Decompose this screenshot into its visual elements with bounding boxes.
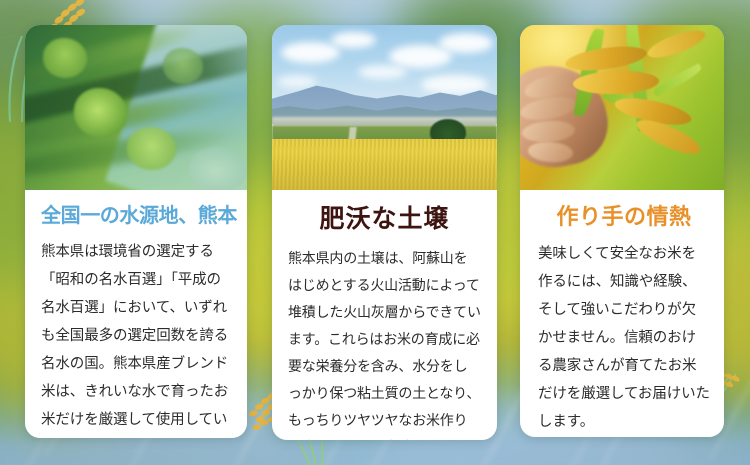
card-2-text: 熊本県内の土壌は、阿蘇山をはじめとする火山活動によって堆積した火山灰層からできて… [288, 245, 481, 440]
feature-card-water-source[interactable]: 全国一の水源地、熊本 熊本県は環境省の選定する「昭和の名水百選」「平成の名水百選… [25, 25, 247, 438]
spring-water-aerial-photo [25, 25, 247, 190]
card-1-body: 全国一の水源地、熊本 熊本県は環境省の選定する「昭和の名水百選」「平成の名水百選… [25, 190, 247, 438]
card-2-body: 肥沃な土壌 熊本県内の土壌は、阿蘇山をはじめとする火山活動によって堆積した火山灰… [272, 190, 497, 440]
feature-card-fertile-soil[interactable]: 肥沃な土壌 熊本県内の土壌は、阿蘇山をはじめとする火山活動によって堆積した火山灰… [272, 25, 497, 440]
card-1-text: 熊本県は環境省の選定する「昭和の名水百選」「平成の名水百選」において、いずれも全… [41, 239, 231, 438]
card-3-text: 美味しくて安全なお米を作るには、知識や経験、そして強いこだわりが欠かせません。信… [538, 241, 710, 437]
farmer-hand-rice-ears-photo [520, 25, 724, 190]
card-3-body: 作り手の情熱 美味しくて安全なお米を作るには、知識や経験、そして強いこだわりが欠… [520, 190, 724, 437]
card-3-title: 作り手の情熱 [538, 204, 710, 230]
card-2-title: 肥沃な土壌 [288, 204, 481, 234]
mount-aso-rice-field-photo [272, 25, 497, 190]
card-1-title: 全国一の水源地、熊本 [41, 204, 231, 228]
feature-card-farmer-passion[interactable]: 作り手の情熱 美味しくて安全なお米を作るには、知識や経験、そして強いこだわりが欠… [520, 25, 724, 437]
